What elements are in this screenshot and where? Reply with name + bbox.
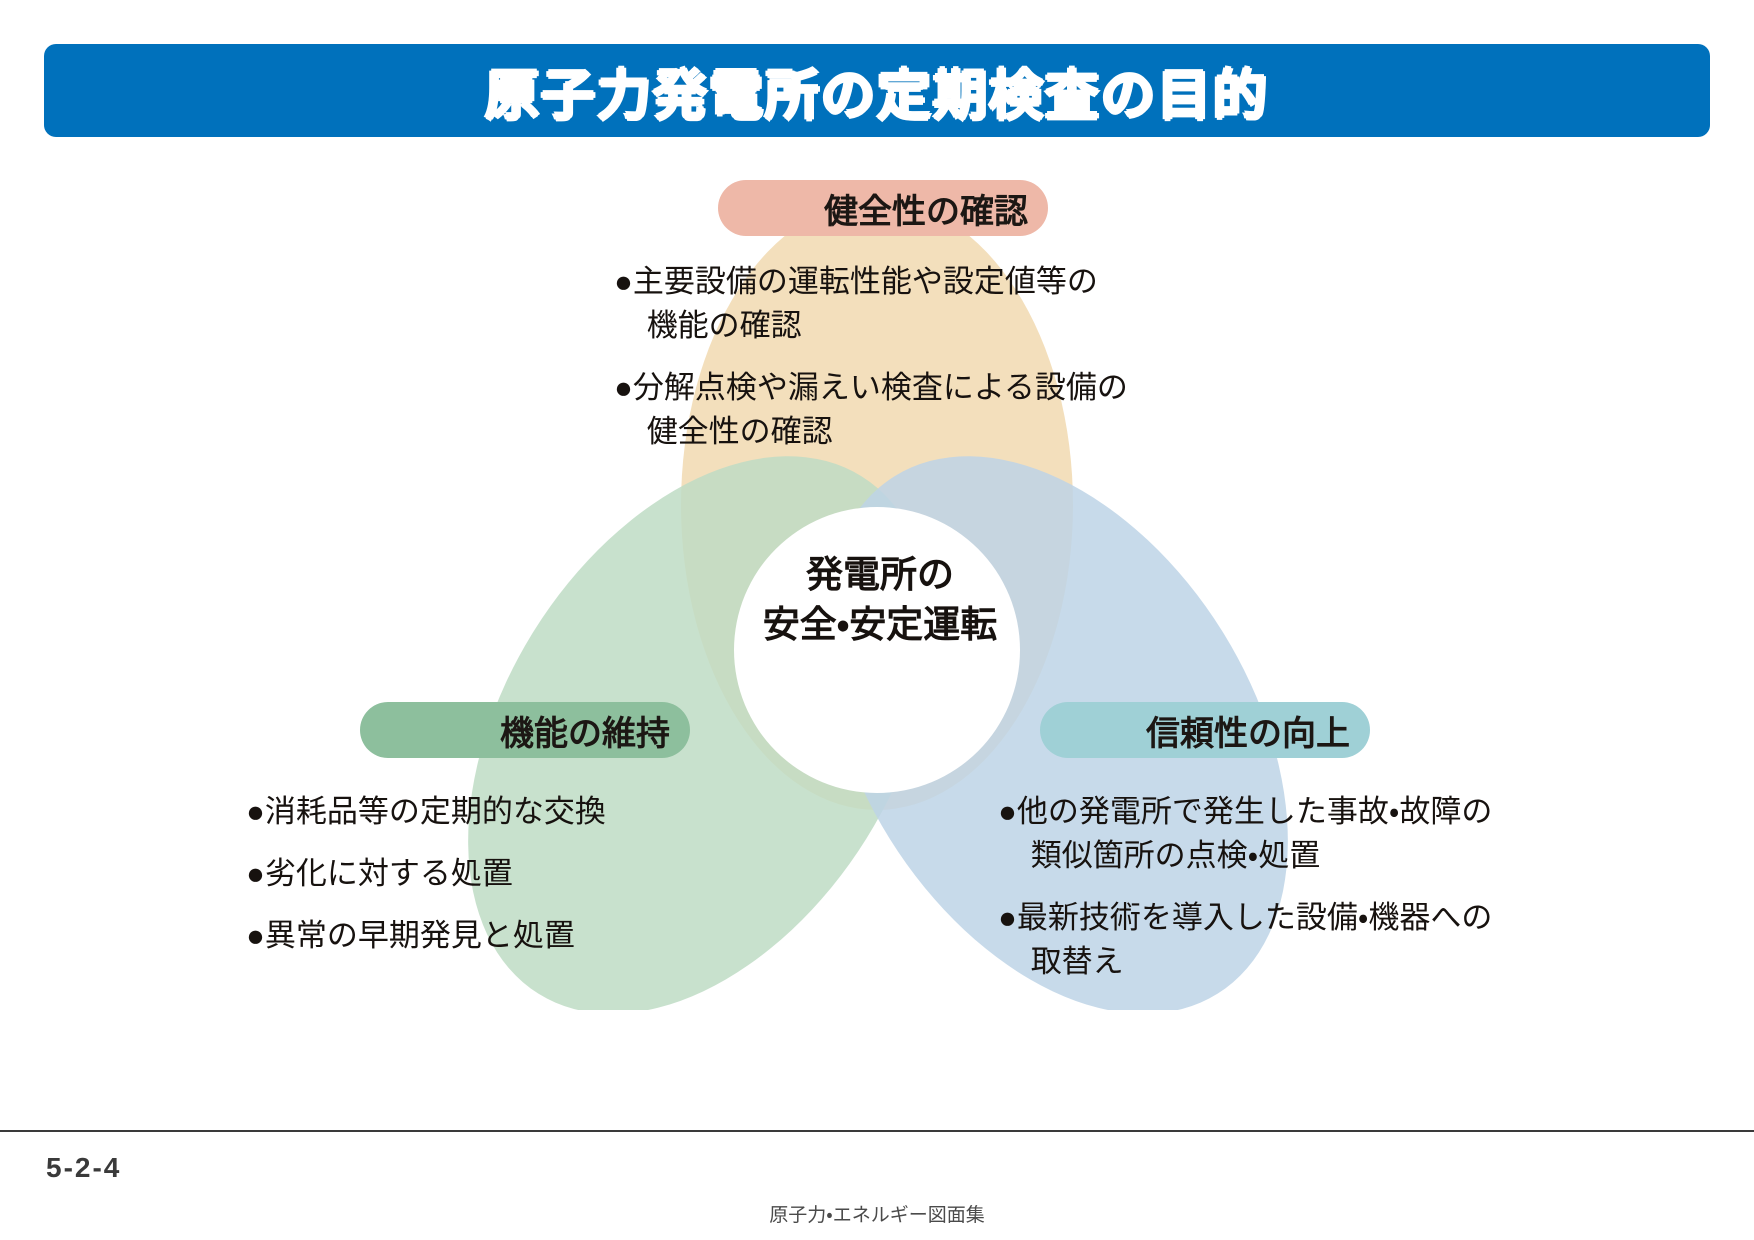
footer-divider [0,1130,1754,1132]
footer-caption: 原子力・エネルギー図面集 [0,1200,1754,1227]
bullet-lead: ●異常の早期発見と処置 [246,918,575,953]
group-label-reliability-text: 信頼性の向上 [1146,706,1350,755]
center-goal-label: 発電所の 安全・安定運転 [700,550,1060,649]
group-label-function-text: 機能の維持 [500,706,670,755]
page-title: 原子力発電所の定期検査の目的 [485,51,1269,130]
bullet-list-soundness: ●主要設備の運転性能や設定値等の 機能の確認 ●分解点検や漏えい検査による設備の… [616,260,1176,454]
bullet-continuation: 取替え [1000,940,1560,984]
list-item: ●他の発電所で発生した事故・故障の 類似箇所の点検・処置 [1000,790,1560,878]
list-item: ●分解点検や漏えい検査による設備の 健全性の確認 [616,366,1176,454]
group-label-soundness-text: 健全性の確認 [824,184,1028,233]
list-item: ●最新技術を導入した設備・機器への 取替え [1000,896,1560,984]
group-label-reliability[interactable]: 信頼性の向上 [1040,702,1370,758]
center-goal-line2: 安全・安定運転 [700,600,1060,650]
bullet-list-reliability: ●他の発電所で発生した事故・故障の 類似箇所の点検・処置 ●最新技術を導入した設… [1000,790,1560,984]
bullet-continuation: 健全性の確認 [616,410,1176,454]
bullet-lead: ●分解点検や漏えい検査による設備の [614,370,1128,405]
group-label-soundness[interactable]: 健全性の確認 [718,180,1048,236]
list-item: ●劣化に対する処置 [248,852,668,896]
bullet-lead: ●消耗品等の定期的な交換 [246,794,606,829]
bullet-continuation: 機能の確認 [616,304,1176,348]
title-banner: 原子力発電所の定期検査の目的 [44,44,1710,137]
center-goal-line1: 発電所の [700,550,1060,600]
bullet-lead: ●他の発電所で発生した事故・故障の [998,794,1492,829]
bullet-lead: ●最新技術を導入した設備・機器への [998,900,1492,935]
bullet-continuation: 類似箇所の点検・処置 [1000,834,1560,878]
venn-diagram: 健全性の確認 機能の維持 信頼性の向上 発電所の 安全・安定運転 ●主要設備の運… [0,150,1754,1010]
bullet-lead: ●主要設備の運転性能や設定値等の [614,264,1098,299]
bullet-list-function: ●消耗品等の定期的な交換 ●劣化に対する処置 ●異常の早期発見と処置 [248,790,668,958]
list-item: ●異常の早期発見と処置 [248,914,668,958]
slide-canvas: 原子力発電所の定期検査の目的 健全性の確認 機能の維持 信頼性の向上 発電所の … [0,0,1754,1240]
page-number: 5-2-4 [46,1152,121,1184]
bullet-lead: ●劣化に対する処置 [246,856,513,891]
list-item: ●主要設備の運転性能や設定値等の 機能の確認 [616,260,1176,348]
group-label-function[interactable]: 機能の維持 [360,702,690,758]
list-item: ●消耗品等の定期的な交換 [248,790,668,834]
